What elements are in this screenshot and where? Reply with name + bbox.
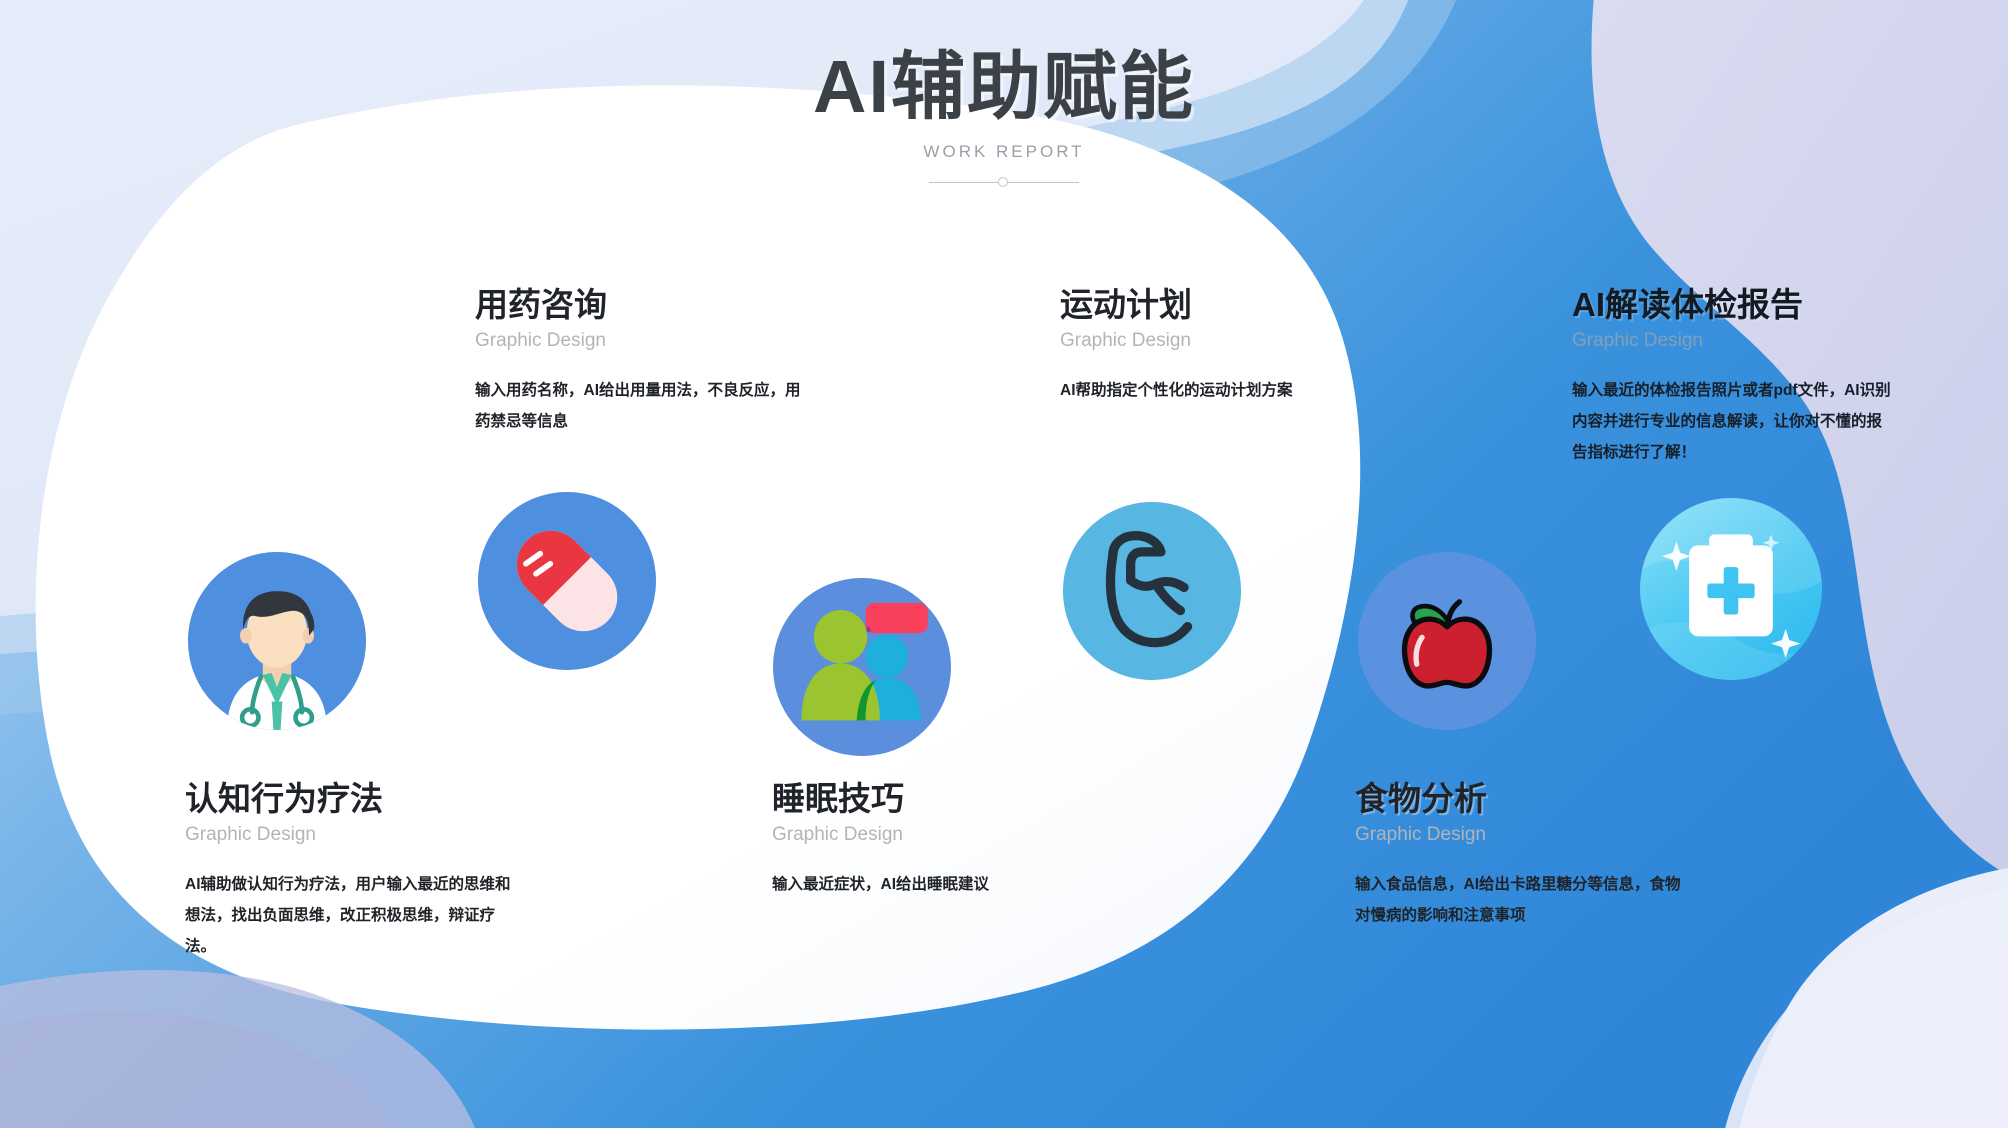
card-medication-subtitle: Graphic Design xyxy=(475,330,815,353)
card-food[interactable]: 食物分析 Graphic Design 输入食品信息，AI给出卡路里糖分等信息，… xyxy=(1355,780,1690,931)
card-exercise-heading: 运动计划 xyxy=(1060,286,1360,324)
card-food-body: 输入食品信息，AI给出卡路里糖分等信息，食物对慢病的影响和注意事项 xyxy=(1355,869,1690,931)
card-report-heading: AI解读体检报告 xyxy=(1572,286,1892,324)
medical-report-icon xyxy=(1640,498,1822,680)
apple-icon xyxy=(1358,552,1536,730)
header-divider xyxy=(929,176,1079,190)
card-food-heading: 食物分析 xyxy=(1355,780,1690,818)
card-exercise-body: AI帮助指定个性化的运动计划方案 xyxy=(1060,375,1360,406)
slide-header: AI辅助赋能 WORK REPORT xyxy=(0,48,2008,190)
muscle-icon xyxy=(1063,502,1241,680)
card-medication-heading: 用药咨询 xyxy=(475,286,815,324)
card-exercise[interactable]: 运动计划 Graphic Design AI帮助指定个性化的运动计划方案 xyxy=(1060,286,1360,406)
card-report[interactable]: AI解读体检报告 Graphic Design 输入最近的体检报告照片或者pdf… xyxy=(1572,286,1892,468)
pill-icon xyxy=(478,492,656,670)
card-sleep-subtitle: Graphic Design xyxy=(772,824,1072,847)
card-exercise-subtitle: Graphic Design xyxy=(1060,330,1360,353)
card-cbt[interactable]: 认知行为疗法 Graphic Design AI辅助做认知行为疗法，用户输入最近… xyxy=(185,780,515,962)
card-cbt-subtitle: Graphic Design xyxy=(185,824,515,847)
page-subtitle: WORK REPORT xyxy=(0,142,2008,162)
card-medication[interactable]: 用药咨询 Graphic Design 输入用药名称，AI给出用量用法，不良反应… xyxy=(475,286,815,437)
card-medication-body: 输入用药名称，AI给出用量用法，不良反应，用药禁忌等信息 xyxy=(475,375,815,437)
card-sleep-body: 输入最近症状，AI给出睡眠建议 xyxy=(772,869,1072,900)
slide-canvas: AI辅助赋能 WORK REPORT xyxy=(0,0,2008,1128)
card-cbt-body: AI辅助做认知行为疗法，用户输入最近的思维和想法，找出负面思维，改正积极思维，辩… xyxy=(185,869,515,962)
card-sleep-heading: 睡眠技巧 xyxy=(772,780,1072,818)
people-talking-icon xyxy=(773,578,951,756)
card-report-subtitle: Graphic Design xyxy=(1572,330,1892,353)
divider-dot xyxy=(998,177,1008,187)
card-cbt-heading: 认知行为疗法 xyxy=(185,780,515,818)
card-food-subtitle: Graphic Design xyxy=(1355,824,1690,847)
card-report-body: 输入最近的体检报告照片或者pdf文件，AI识别内容并进行专业的信息解读，让你对不… xyxy=(1572,375,1892,468)
page-title: AI辅助赋能 xyxy=(0,48,2008,126)
card-sleep[interactable]: 睡眠技巧 Graphic Design 输入最近症状，AI给出睡眠建议 xyxy=(772,780,1072,900)
doctor-icon xyxy=(188,552,366,730)
